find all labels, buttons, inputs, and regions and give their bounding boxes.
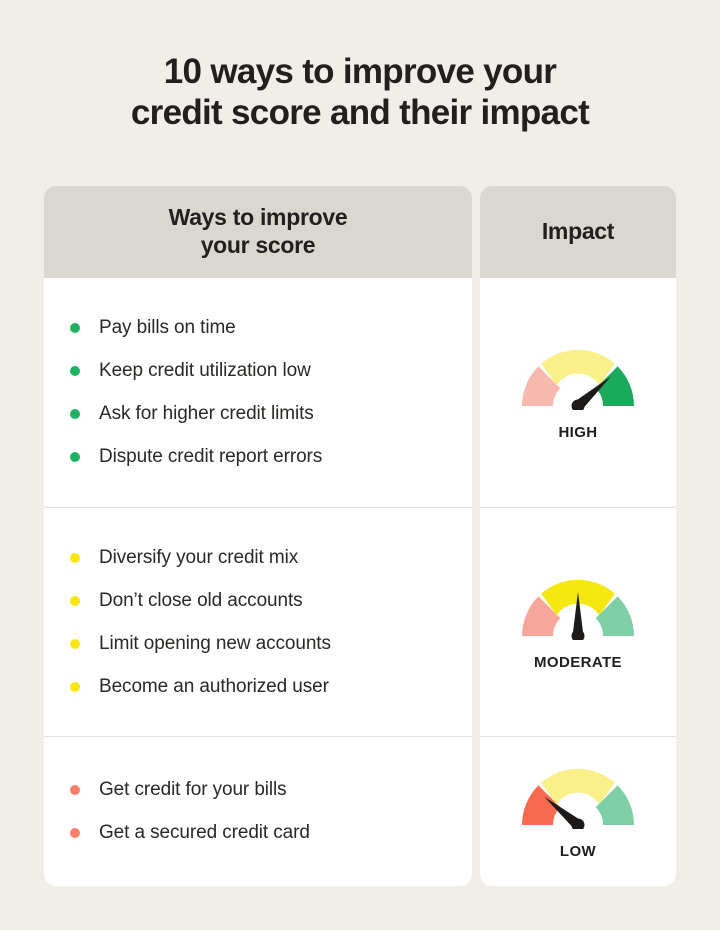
gauge-label-low: LOW	[560, 843, 596, 860]
comparison-table: Ways to improve your score Pay bills on …	[44, 186, 676, 886]
list-item-label: Limit opening new accounts	[99, 633, 331, 655]
page-title-line-1: 10 ways to improve your	[60, 52, 660, 93]
list-item: Pay bills on time	[70, 307, 472, 350]
ways-list-low: Get credit for your bills Get a secured …	[44, 769, 472, 855]
bullet-icon	[70, 682, 80, 692]
gauge-icon	[517, 344, 639, 410]
list-item-label: Get a secured credit card	[99, 822, 310, 844]
impact-cell-moderate: MODERATE	[480, 507, 676, 736]
ways-group-moderate: Diversify your credit mix Don’t close ol…	[44, 507, 472, 736]
bullet-icon	[70, 596, 80, 606]
ways-group-high: Pay bills on time Keep credit utilizatio…	[44, 278, 472, 507]
bullet-icon	[70, 828, 80, 838]
page-title: 10 ways to improve your credit score and…	[60, 52, 660, 133]
gauge-high	[517, 344, 639, 410]
column-header-ways-line-2: your score	[169, 232, 348, 260]
ways-list-moderate: Diversify your credit mix Don’t close ol…	[44, 536, 472, 708]
list-item: Don’t close old accounts	[70, 579, 472, 622]
gauge-label-moderate: MODERATE	[534, 654, 622, 671]
ways-group-low: Get credit for your bills Get a secured …	[44, 736, 472, 886]
list-item: Get credit for your bills	[70, 769, 472, 812]
list-item-label: Don’t close old accounts	[99, 590, 303, 612]
bullet-icon	[70, 323, 80, 333]
gauge-moderate	[517, 574, 639, 640]
ways-list-high: Pay bills on time Keep credit utilizatio…	[44, 307, 472, 479]
gauge-icon	[517, 763, 639, 829]
impact-cell-low: LOW	[480, 736, 676, 886]
gauge-segment-middle	[541, 350, 615, 386]
list-item: Dispute credit report errors	[70, 436, 472, 479]
column-ways-to-improve: Ways to improve your score Pay bills on …	[44, 186, 472, 886]
list-item-label: Ask for higher credit limits	[99, 403, 314, 425]
gauge-low	[517, 763, 639, 829]
list-item: Keep credit utilization low	[70, 350, 472, 393]
list-item-label: Keep credit utilization low	[99, 360, 311, 382]
list-item-label: Diversify your credit mix	[99, 547, 298, 569]
bullet-icon	[70, 366, 80, 376]
bullet-icon	[70, 409, 80, 419]
bullet-icon	[70, 452, 80, 462]
list-item-label: Pay bills on time	[99, 317, 236, 339]
list-item: Ask for higher credit limits	[70, 393, 472, 436]
bullet-icon	[70, 785, 80, 795]
bullet-icon	[70, 553, 80, 563]
column-header-impact-label: Impact	[542, 218, 614, 246]
column-header-ways-line-1: Ways to improve	[169, 204, 348, 232]
gauge-icon	[517, 574, 639, 640]
impact-cell-high: HIGH	[480, 278, 676, 507]
list-item: Get a secured credit card	[70, 812, 472, 855]
page-title-line-2: credit score and their impact	[60, 93, 660, 134]
list-item: Become an authorized user	[70, 665, 472, 708]
list-item-label: Get credit for your bills	[99, 779, 287, 801]
column-header-ways: Ways to improve your score	[44, 186, 472, 278]
bullet-icon	[70, 639, 80, 649]
list-item-label: Dispute credit report errors	[99, 446, 322, 468]
list-item: Limit opening new accounts	[70, 622, 472, 665]
gauge-segment-middle	[541, 769, 615, 805]
list-item-label: Become an authorized user	[99, 676, 329, 698]
column-header-impact: Impact	[480, 186, 676, 278]
gauge-label-high: HIGH	[558, 424, 597, 441]
column-impact: Impact HIGH	[480, 186, 676, 886]
list-item: Diversify your credit mix	[70, 536, 472, 579]
infographic-page: 10 ways to improve your credit score and…	[0, 0, 720, 930]
